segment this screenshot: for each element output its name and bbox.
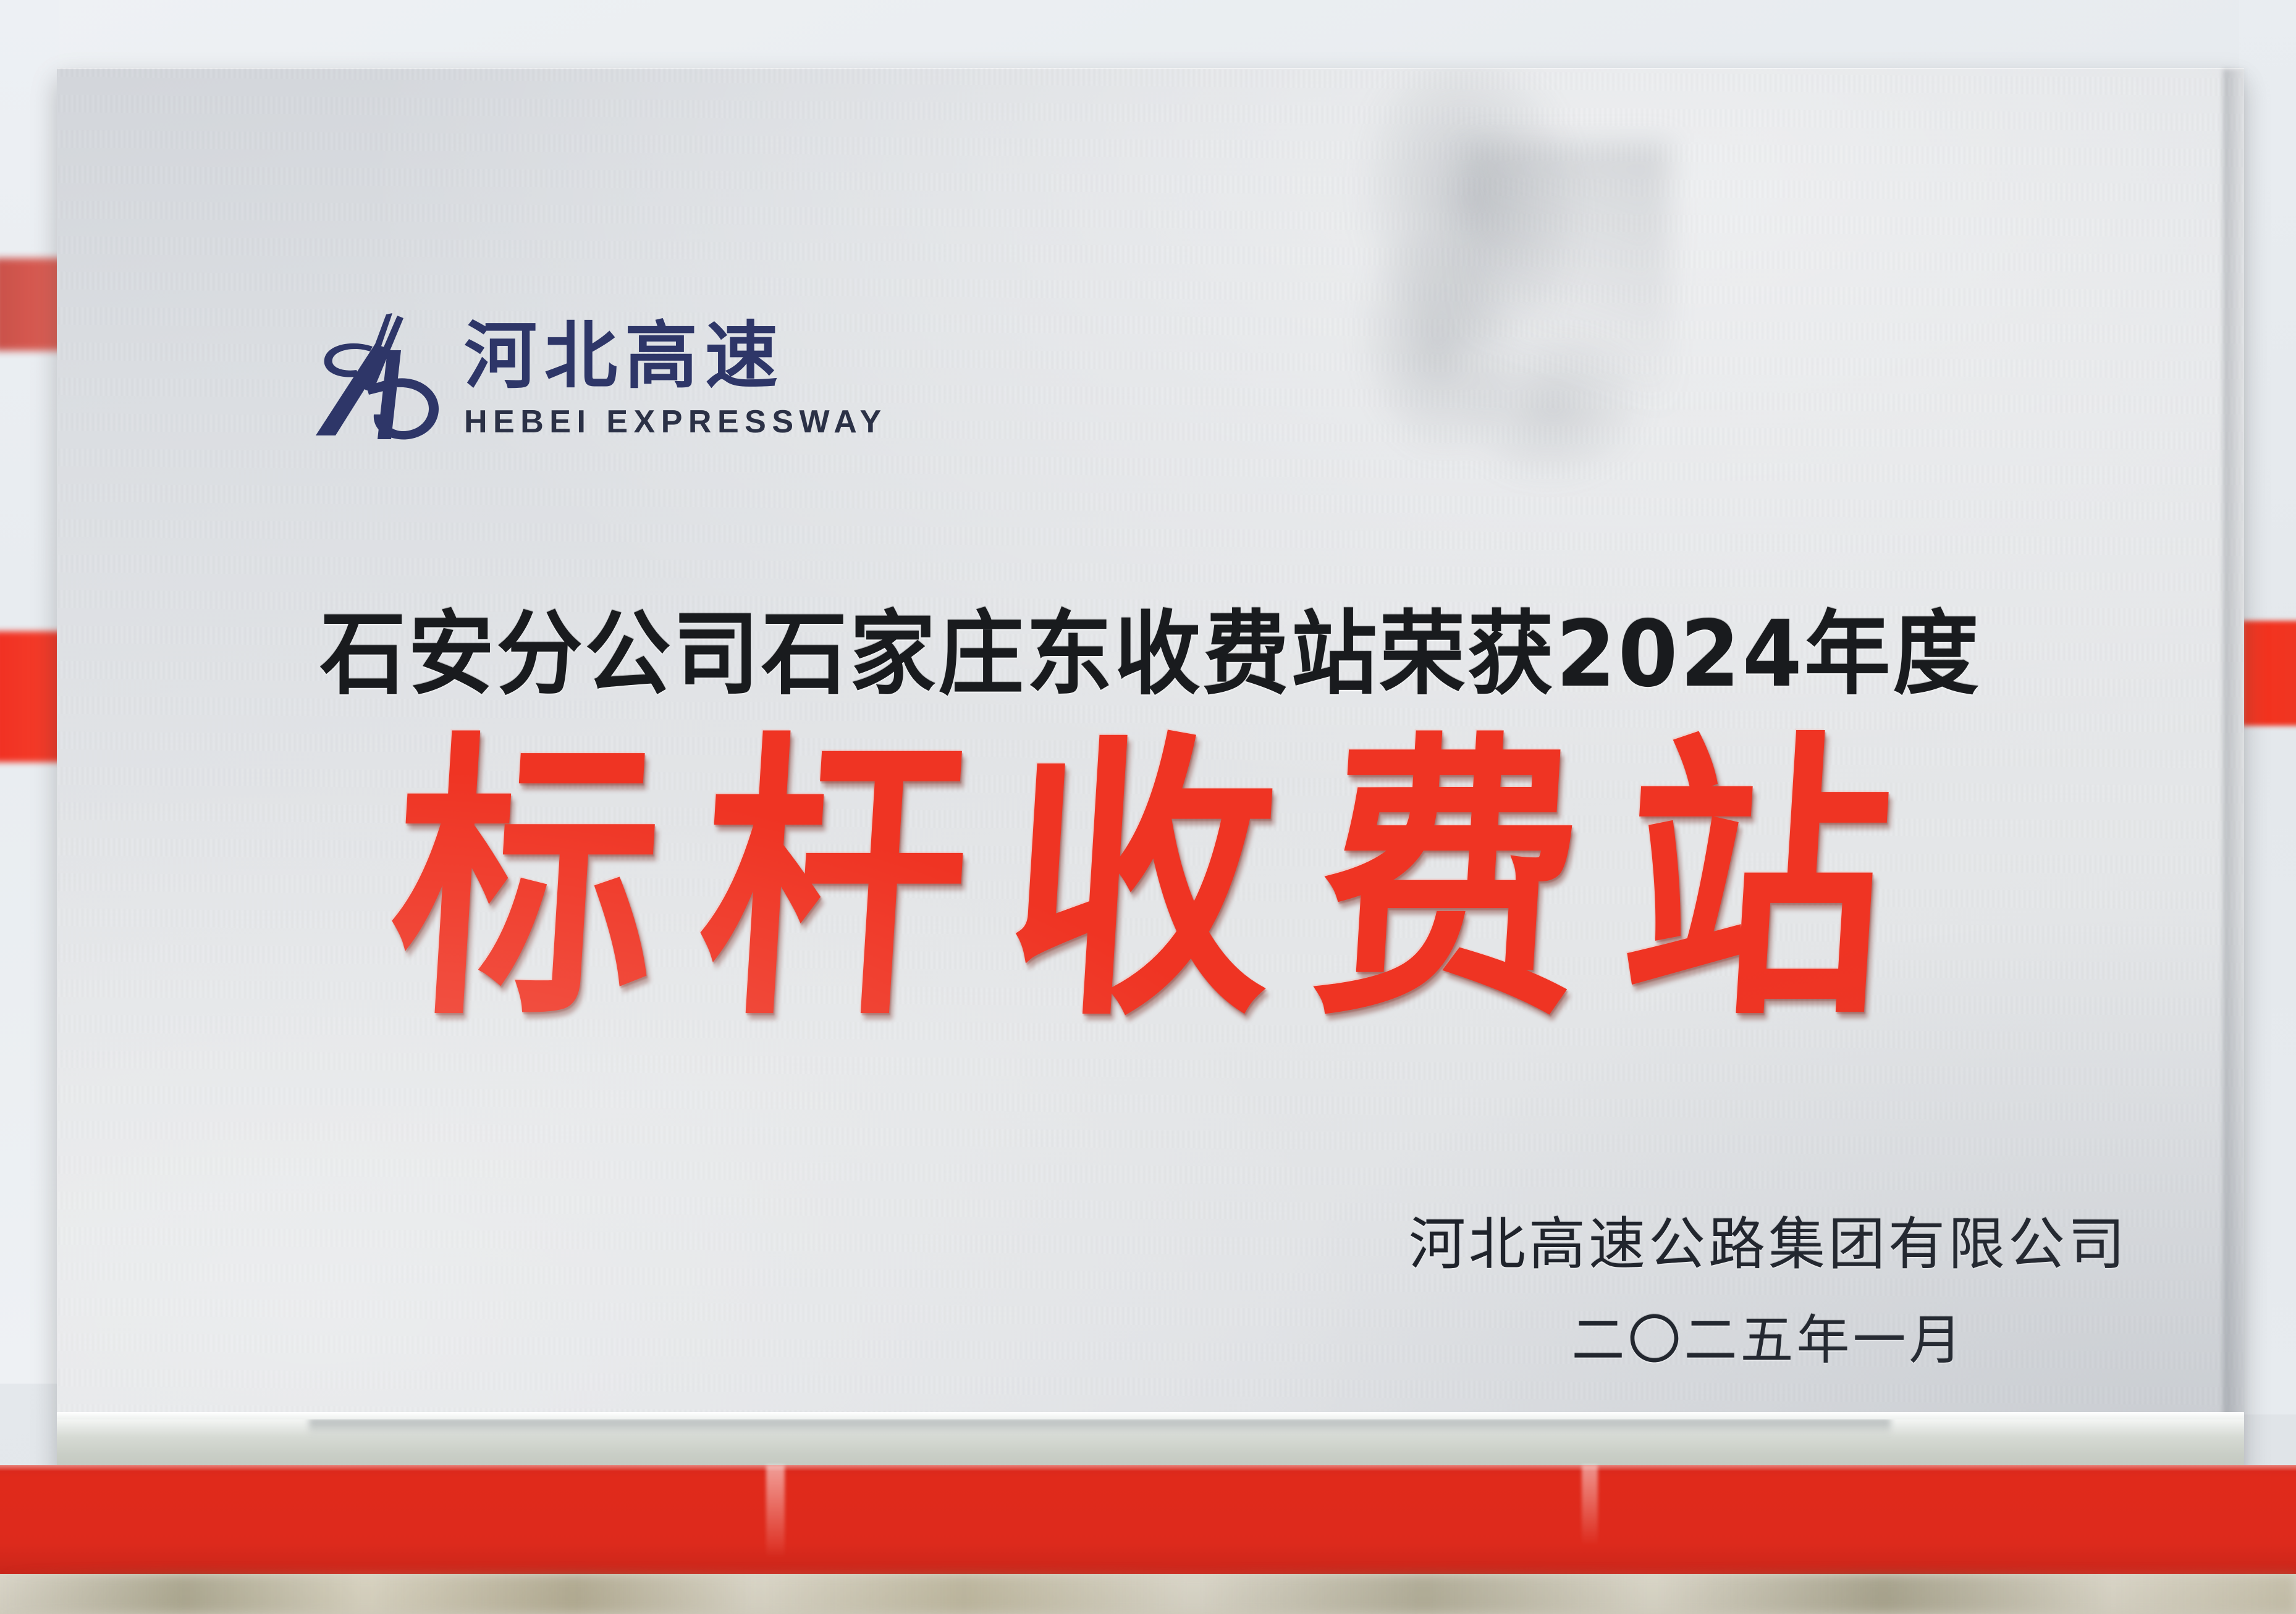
screenshot-stage: 河北高速 HEBEI EXPRESSWAY 石安分公司石家庄东收费站荣获2024… (0, 0, 2296, 1614)
award-plaque: 河北高速 HEBEI EXPRESSWAY 石安分公司石家庄东收费站荣获2024… (57, 68, 2244, 1477)
plaque-bevel-highlight (57, 1412, 2244, 1419)
plaque-right-shadow (2223, 69, 2248, 1474)
award-title-calligraphy: 标杆收费站 (57, 734, 2244, 1032)
plaque-bevel-shadow (309, 1418, 1891, 1434)
table-front-blurred-objects (0, 1574, 2296, 1614)
hebei-expressway-logo: 河北高速 HEBEI EXPRESSWAY (313, 312, 887, 445)
table-gloss-left (766, 1465, 785, 1558)
logo-text-block: 河北高速 HEBEI EXPRESSWAY (464, 319, 887, 438)
reflection-hand-upper-right (1230, 68, 1739, 572)
hebei-expressway-a-swoosh-icon (313, 312, 443, 445)
issuing-organization: 河北高速公路集团有限公司 (1404, 1198, 2133, 1280)
red-table-surface (0, 1465, 2296, 1578)
logo-chinese-name: 河北高速 (464, 319, 887, 392)
issue-date: 二〇二五年一月 (1404, 1297, 2133, 1374)
signature-block: 河北高速公路集团有限公司 二〇二五年一月 (1404, 1198, 2133, 1374)
reflection-soft-upper-right (1466, 142, 1669, 463)
logo-english-name: HEBEI EXPRESSWAY (464, 406, 887, 438)
plaque-headline: 石安分公司石家庄东收费站荣获2024年度 (122, 579, 2179, 712)
table-gloss-right (1582, 1465, 1598, 1545)
background-red-banner-right (2242, 621, 2296, 726)
